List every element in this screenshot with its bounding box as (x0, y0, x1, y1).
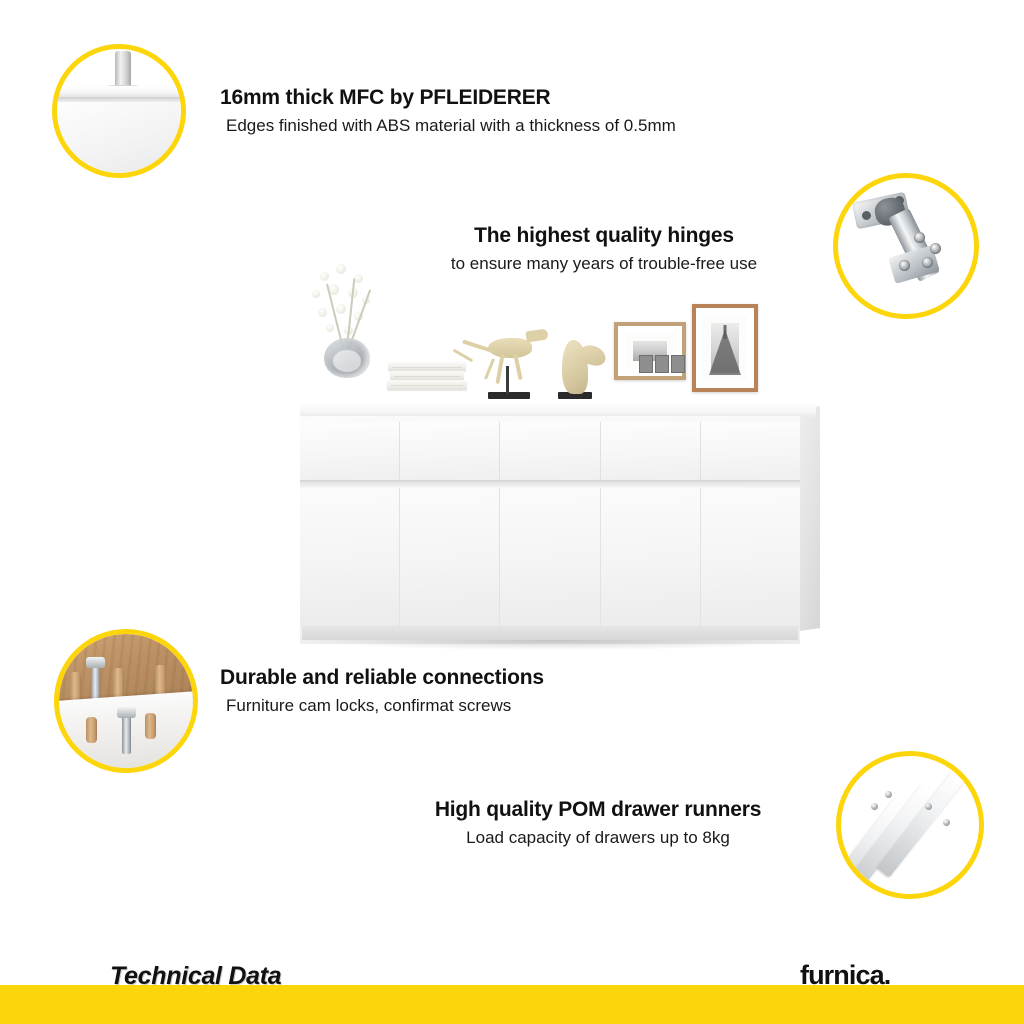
cabinet-drawer[interactable] (300, 422, 400, 480)
hinge-screw-shape (899, 260, 910, 271)
drawer-top-edge-shape (57, 86, 181, 97)
runner-roller-shape (943, 819, 950, 826)
decor-framed-eiffel-tower-photo (692, 304, 758, 392)
cabinet-door[interactable] (500, 488, 600, 628)
footer-label: Technical Data (110, 962, 281, 991)
drawer-runners-image (841, 756, 979, 894)
runner-roller-shape (885, 791, 892, 798)
decor-vase-shape (324, 338, 370, 378)
cabinet-door[interactable] (701, 488, 800, 628)
cabinet-hinge-photo-icon (833, 173, 979, 319)
decor-framed-shopfront-photo (614, 322, 686, 380)
cabinet-drawer[interactable] (500, 422, 600, 480)
cabinet-drawer[interactable] (701, 422, 800, 480)
runner-roller-shape (871, 803, 878, 810)
cabinet-drawer[interactable] (400, 422, 500, 480)
drawer-runners-photo-icon (836, 751, 984, 899)
hinge-screw-shape (930, 243, 941, 254)
drawer-runner-shape (845, 783, 936, 893)
frame-photo (711, 323, 739, 373)
cabinet-door[interactable] (400, 488, 500, 628)
cabinet-hinge-image (838, 178, 974, 314)
drawer-edge-image (57, 49, 181, 173)
cabinet-drawer[interactable] (601, 422, 701, 480)
eiffel-tower-shape (709, 329, 741, 375)
cabinet-door[interactable] (601, 488, 701, 628)
cabinet-handle-gap (300, 480, 800, 487)
feature-subtitle-connections: Furniture cam locks, confirmat screws (226, 696, 544, 716)
product-photo-sideboard (292, 262, 822, 662)
wooden-dowel-shape (86, 717, 97, 743)
frame-photo (633, 341, 667, 361)
dowels-and-confirmat-screws-photo-icon (54, 629, 198, 773)
confirmat-screw-shape (122, 716, 131, 754)
feature-subtitle-runners: Load capacity of drawers up to 8kg (388, 828, 808, 848)
drawer-front-shape (57, 102, 181, 173)
feature-text-runners: High quality POM drawer runners Load cap… (388, 798, 808, 848)
feature-title-mfc: 16mm thick MFC by PFLEIDERER (220, 86, 676, 110)
wooden-dowel-shape (145, 713, 156, 739)
cabinet-plinth (302, 626, 798, 640)
drawer-edge-photo-icon (52, 44, 186, 178)
feature-text-connections: Durable and reliable connections Furnitu… (220, 666, 544, 716)
feature-text-mfc: 16mm thick MFC by PFLEIDERER Edges finis… (220, 86, 676, 136)
cabinet-door[interactable] (300, 488, 400, 628)
cabinet-drawer-row (300, 422, 800, 480)
infographic-page: 16mm thick MFC by PFLEIDERER Edges finis… (0, 0, 1024, 1024)
feature-title-hinges: The highest quality hinges (404, 224, 804, 248)
feature-title-runners: High quality POM drawer runners (388, 798, 808, 822)
cabinet-floor-shadow (306, 640, 806, 650)
feature-title-connections: Durable and reliable connections (220, 666, 544, 690)
brand-logo: furnica. (800, 960, 890, 991)
cabinet-door-row (300, 488, 800, 628)
dowels-image (59, 634, 193, 768)
feature-subtitle-mfc: Edges finished with ABS material with a … (226, 116, 676, 136)
